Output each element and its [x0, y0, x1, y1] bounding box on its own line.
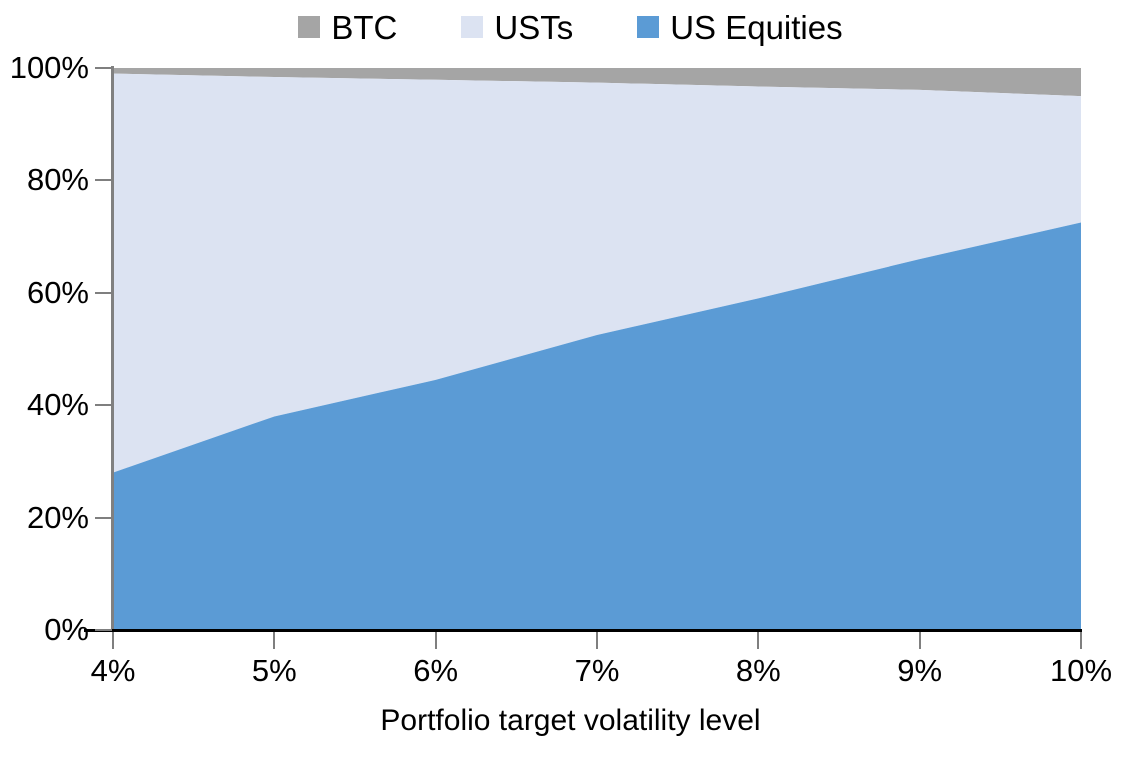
plot-area: [113, 68, 1081, 630]
y-axis-tick: [95, 517, 112, 519]
x-axis-tick: [596, 632, 598, 649]
y-axis-tick: [95, 629, 112, 631]
y-axis-label: 20%: [0, 502, 89, 533]
x-axis-tick: [112, 632, 114, 649]
legend-item-usts: USTs: [461, 11, 573, 44]
y-axis-line: [111, 66, 114, 632]
x-axis-title: Portfolio target volatility level: [0, 706, 1141, 736]
x-axis-label: 6%: [376, 655, 496, 686]
y-axis-tick: [95, 179, 112, 181]
area-series-svg: [113, 68, 1081, 630]
y-axis-label: 40%: [0, 389, 89, 420]
chart-legend: BTC USTs US Equities: [0, 6, 1141, 48]
y-axis-tick: [95, 292, 112, 294]
y-axis-tick: [95, 404, 112, 406]
legend-swatch-usts: [461, 16, 483, 38]
legend-label-usts: USTs: [494, 11, 573, 44]
y-axis-tick: [95, 67, 112, 69]
legend-label-us-equities: US Equities: [670, 11, 842, 44]
x-axis-tick: [919, 632, 921, 649]
x-axis-label: 8%: [698, 655, 818, 686]
legend-swatch-us-equities: [637, 16, 659, 38]
stacked-area-chart: BTC USTs US Equities 100%80%60%40%20%0% …: [0, 0, 1141, 763]
x-axis-tick: [757, 632, 759, 649]
y-axis-label: 80%: [0, 164, 89, 195]
legend-item-btc: BTC: [298, 11, 397, 44]
x-axis-label: 10%: [1021, 655, 1141, 686]
legend-label-btc: BTC: [331, 11, 397, 44]
y-axis-label: 60%: [0, 277, 89, 308]
x-axis-label: 7%: [537, 655, 657, 686]
x-axis-label: 9%: [860, 655, 980, 686]
legend-item-us-equities: US Equities: [637, 11, 842, 44]
x-axis-tick: [273, 632, 275, 649]
x-axis-tick: [435, 632, 437, 649]
y-axis-label: 0%: [0, 614, 89, 645]
y-axis-label: 100%: [0, 52, 89, 83]
x-axis-line: [84, 629, 1082, 632]
x-axis-label: 4%: [53, 655, 173, 686]
x-axis-tick: [1080, 632, 1082, 649]
x-axis-label: 5%: [214, 655, 334, 686]
legend-swatch-btc: [298, 16, 320, 38]
